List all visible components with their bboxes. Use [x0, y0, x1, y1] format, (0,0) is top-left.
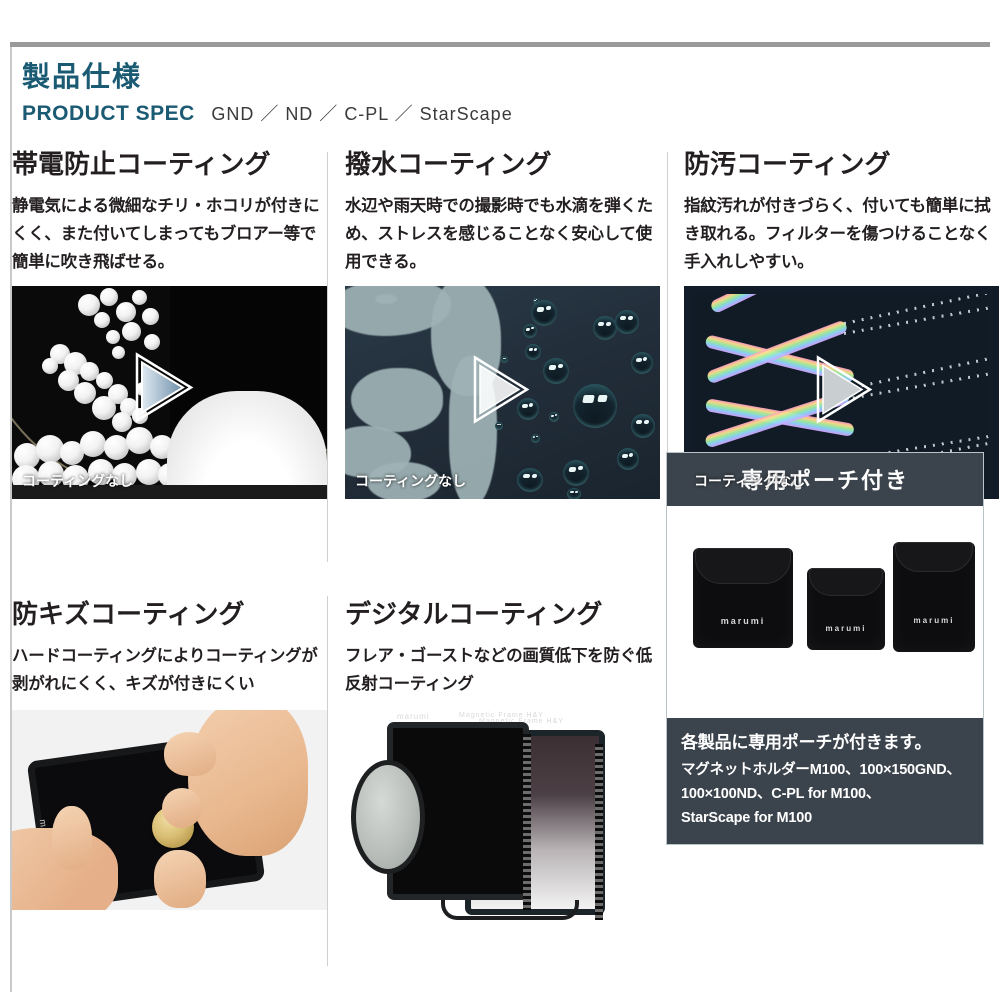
pouch-large: marumi [693, 548, 793, 648]
arrow-right-icon [472, 355, 530, 425]
feature-title: 防キズコーティング [12, 598, 327, 632]
water-smear [351, 368, 443, 432]
pouch-product-line: StarScape for M100 [681, 806, 969, 830]
pouch-flap [809, 568, 884, 596]
rainbow-streak [709, 294, 841, 314]
photo-label-no-coating: コーティングなし [22, 471, 133, 491]
pouch-panel: 専用ポーチ付き marumi marumi marumi 各製品に専用ポーチが付… [666, 452, 984, 845]
feature-photo-antistatic: コーティングなし [12, 286, 327, 499]
pouch-flap [895, 542, 974, 572]
hand-right [188, 710, 308, 856]
pouch-lead-text: 各製品に専用ポーチが付きます。 [681, 730, 969, 756]
pouch-brand-label: marumi [807, 624, 885, 633]
feature-card-water-repellent: 撥水コーティング 水辺や雨天時での撮影時でも水滴を弾くため、ストレスを感じること… [345, 148, 660, 499]
finger [162, 788, 202, 828]
feature-card-digital-coating: デジタルコーティング フレア・ゴーストなどの画質低下を防ぐ低反射コーティング M… [345, 598, 660, 934]
arrow-right-icon [815, 355, 873, 425]
pouch-photo: marumi marumi marumi [667, 506, 983, 718]
feature-description: ハードコーティングによりコーティングが剥がれにくく、キズが付きにくい [12, 642, 324, 698]
feature-description: 静電気による微細なチリ・ホコリが付きにくく、また付いてしまってもブロアー等で簡単… [12, 192, 324, 276]
bead [42, 358, 58, 374]
pouch-flap [695, 548, 791, 584]
column-divider-3 [327, 596, 328, 966]
water-droplet [593, 316, 617, 340]
feature-photo-digital-coating: Magnetic Frame H&Y marumi Magnetic Frame… [345, 704, 660, 934]
water-droplet [615, 310, 639, 334]
filter-brand-label: marumi [397, 712, 430, 721]
feature-title: デジタルコーティング [345, 598, 660, 632]
feature-title: 帯電防止コーティング [12, 148, 327, 182]
bead [94, 312, 110, 328]
pouch-brand-label: marumi [893, 616, 975, 625]
feature-title: 撥水コーティング [345, 148, 660, 182]
water-droplet [631, 414, 655, 438]
bead [144, 334, 160, 350]
bead [122, 322, 141, 341]
comparison-arrow-icon [815, 355, 873, 430]
water-droplet [549, 412, 559, 422]
feature-photo-water-repellent: コーティングなし [345, 286, 660, 499]
feature-card-antistatic: 帯電防止コーティング 静電気による微細なチリ・ホコリが付きにくく、また付いてしま… [12, 148, 327, 499]
page-title-jp: 製品仕様 [22, 57, 722, 97]
pouch-brand-label: marumi [693, 616, 793, 626]
finger [164, 732, 216, 776]
arrow-right-icon [133, 351, 195, 425]
bead [112, 346, 125, 359]
dotted-residue [844, 306, 989, 335]
product-spec-page: 製品仕様 PRODUCT SPEC GND ／ ND ／ C-PL ／ Star… [0, 0, 1000, 1000]
water-droplet [517, 468, 543, 492]
pouch-panel-footer: 各製品に専用ポーチが付きます。 マグネットホルダーM100、100×150GND… [667, 718, 983, 844]
water-droplet [533, 298, 539, 304]
section-heading: 製品仕様 PRODUCT SPEC GND ／ ND ／ C-PL ／ Star… [22, 57, 722, 129]
water-droplet [563, 460, 589, 486]
cpl-filter [351, 760, 425, 874]
magnet-teeth-strip [595, 744, 603, 920]
page-subtitle-row: PRODUCT SPEC GND ／ ND ／ C-PL ／ StarScape [22, 101, 722, 129]
feature-card-scratch-resistant: 防キズコーティング ハードコーティングによりコーティングが剥がれにくく、キズが付… [12, 598, 327, 910]
feature-description: 水辺や雨天時での撮影時でも水滴を弾くため、ストレスを感じることなく安心して使用で… [345, 192, 657, 276]
pouch-product-line: 100×100ND、C-PL for M100、 [681, 782, 969, 806]
water-droplet [617, 448, 639, 470]
feature-title: 防汚コーティング [684, 148, 999, 182]
water-droplet [631, 352, 653, 374]
comparison-arrow-icon [133, 351, 195, 430]
water-droplet [567, 488, 581, 499]
finger [52, 806, 92, 870]
bead [100, 288, 118, 306]
photo-label-no-coating: コーティングなし [355, 471, 466, 491]
bead [116, 302, 136, 322]
photo-label-no-coating: コーティングなし [694, 471, 805, 491]
feature-description: 指紋汚れが付きづらく、付いても簡単に拭き取れる。フィルターを傷つけることなく手入… [684, 192, 996, 276]
page-title-en: PRODUCT SPEC [22, 102, 195, 125]
bead [74, 382, 96, 404]
water-droplet [531, 434, 540, 443]
bead [142, 308, 159, 325]
column-divider-1 [327, 152, 328, 562]
top-rule-divider [10, 42, 990, 47]
magnet-teeth-strip [523, 734, 531, 910]
water-droplet [543, 358, 569, 384]
water-droplet [573, 384, 617, 428]
pouch-product-line: マグネットホルダーM100、100×150GND、 [681, 758, 969, 782]
feature-description: フレア・ゴーストなどの画質低下を防ぐ低反射コーティング [345, 642, 657, 698]
filter-stand [441, 900, 579, 920]
model-list: GND ／ ND ／ C-PL ／ StarScape [211, 104, 512, 124]
feature-photo-scratch-resistant: marumi [12, 710, 327, 910]
filter-frame-label: Magnetic Frame H&Y [459, 712, 544, 719]
pouch-tall: marumi [893, 542, 975, 652]
finger [154, 850, 206, 908]
comparison-arrow-icon [472, 355, 530, 430]
bead [132, 290, 147, 305]
water-droplet [523, 324, 537, 338]
feature-card-antistain: 防汚コーティング 指紋汚れが付きづらく、付いても簡単に拭き取れる。フィルターを傷… [684, 148, 999, 499]
bead [106, 330, 120, 344]
pouch-medium: marumi [807, 568, 885, 650]
water-smear [375, 294, 397, 304]
